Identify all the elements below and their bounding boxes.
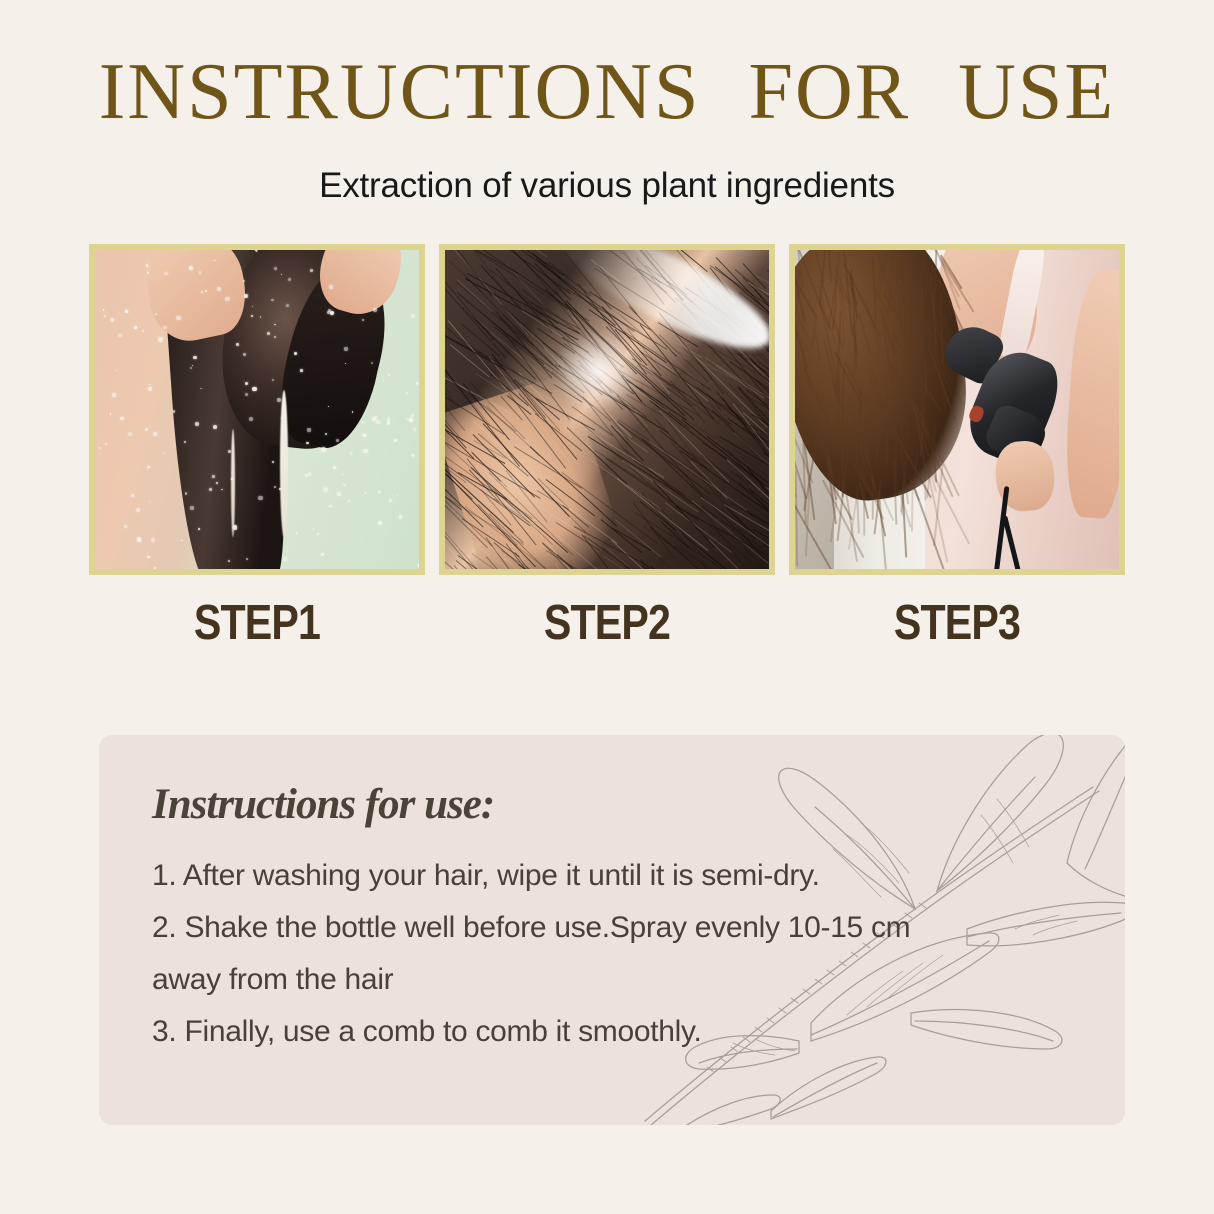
spray-scalp-photo: [445, 250, 769, 569]
step-1-photo-frame: [89, 244, 425, 575]
step-2-label: STEP2: [466, 595, 748, 651]
page-title: INSTRUCTIONS FOR USE: [0, 52, 1214, 132]
instruction-line: 1. After washing your hair, wipe it unti…: [152, 850, 1125, 902]
step-1-label: STEP1: [116, 595, 398, 651]
instructions-heading: Instructions for use:: [152, 783, 1125, 826]
page-subtitle: Extraction of various plant ingredients: [0, 166, 1214, 206]
step-3: STEP3: [789, 244, 1125, 651]
blow-dry-photo: [795, 250, 1119, 569]
washing-hair-photo: [95, 250, 419, 569]
instructions-panel: Instructions for use: 1. After washing y…: [99, 735, 1125, 1125]
steps-row: STEP1 STEP2: [0, 244, 1214, 651]
instruction-line: away from the hair: [152, 954, 1125, 1006]
instructions-list: 1. After washing your hair, wipe it unti…: [152, 850, 1125, 1058]
instructions-content: Instructions for use: 1. After washing y…: [99, 735, 1125, 1058]
step-2: STEP2: [439, 244, 775, 651]
instructions-for-use-graphic: { "page": { "background_color": "#f5f1ea…: [0, 0, 1214, 1214]
header: INSTRUCTIONS FOR USE Extraction of vario…: [0, 0, 1214, 206]
step-3-photo-frame: [789, 244, 1125, 575]
step-2-photo-frame: [439, 244, 775, 575]
step-3-label: STEP3: [816, 595, 1098, 651]
instruction-line: 2. Shake the bottle well before use.Spra…: [152, 902, 1125, 954]
instruction-line: 3. Finally, use a comb to comb it smooth…: [152, 1006, 1125, 1058]
step-1: STEP1: [89, 244, 425, 651]
